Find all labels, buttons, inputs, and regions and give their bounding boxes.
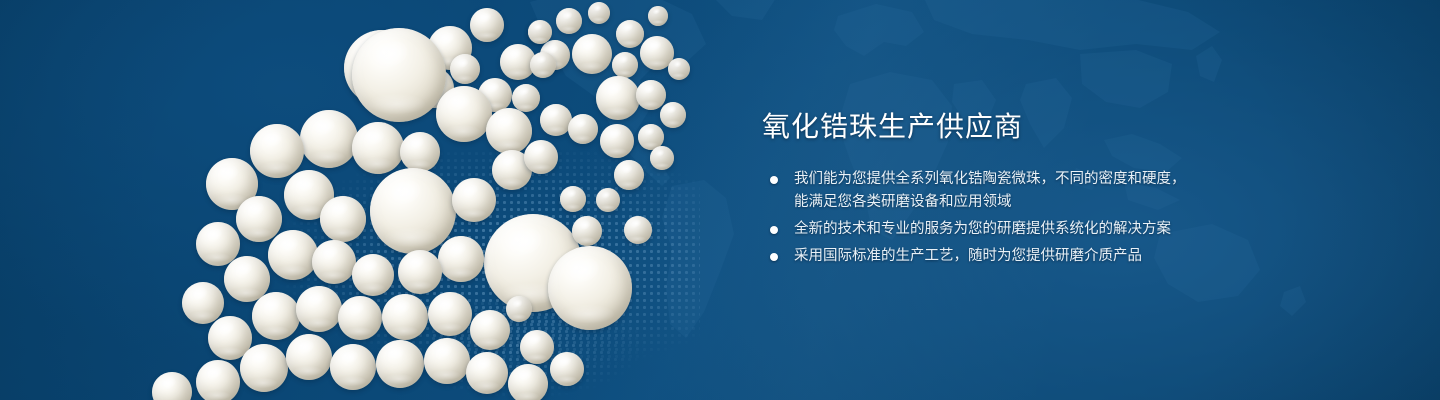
bullet-dot-icon [770, 226, 778, 234]
hero-banner: 氧化锆珠生产供应商 我们能为您提供全系列氧化锆陶瓷微珠，不同的密度和硬度， 能满… [0, 0, 1440, 400]
feature-list: 我们能为您提供全系列氧化锆陶瓷微珠，不同的密度和硬度， 能满足您各类研磨设备和应… [764, 168, 1404, 272]
list-item-line-1: 全新的技术和专业的服务为您的研磨提供系统化的解决方案 [794, 221, 1171, 237]
list-item-label: 采用国际标准的生产工艺，随时为您提供研磨介质产品 [794, 245, 1404, 268]
bullet-dot-icon [770, 253, 778, 261]
list-item-label: 全新的技术和专业的服务为您的研磨提供系统化的解决方案 [794, 218, 1404, 241]
list-item-line-2: 能满足您各类研磨设备和应用领域 [794, 191, 1404, 214]
banner-content: 氧化锆珠生产供应商 我们能为您提供全系列氧化锆陶瓷微珠，不同的密度和硬度， 能满… [762, 0, 1422, 400]
list-item-line-1: 我们能为您提供全系列氧化锆陶瓷微珠，不同的密度和硬度， [794, 171, 1186, 187]
list-item: 我们能为您提供全系列氧化锆陶瓷微珠，不同的密度和硬度， 能满足您各类研磨设备和应… [764, 168, 1404, 214]
list-item-label: 我们能为您提供全系列氧化锆陶瓷微珠，不同的密度和硬度， 能满足您各类研磨设备和应… [794, 168, 1404, 214]
list-item: 全新的技术和专业的服务为您的研磨提供系统化的解决方案 [764, 218, 1404, 241]
list-item: 采用国际标准的生产工艺，随时为您提供研磨介质产品 [764, 245, 1404, 268]
list-item-line-1: 采用国际标准的生产工艺，随时为您提供研磨介质产品 [794, 248, 1142, 264]
page-title: 氧化锆珠生产供应商 [762, 110, 1023, 144]
bullet-dot-icon [770, 176, 778, 184]
